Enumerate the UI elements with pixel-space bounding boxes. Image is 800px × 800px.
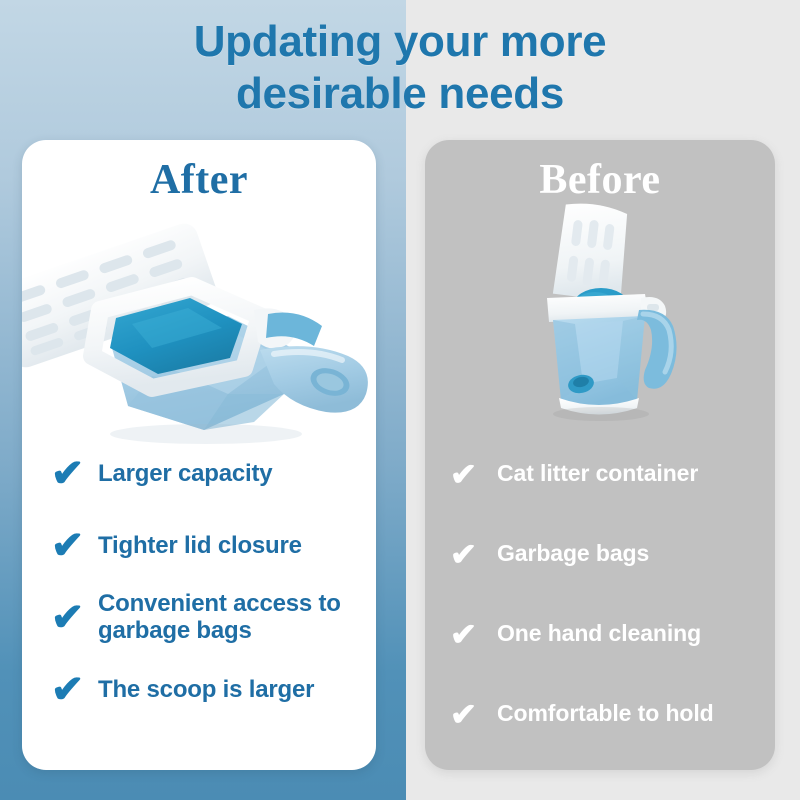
page-title-line-2: desirable needs — [0, 68, 800, 120]
feature-label: Cat litter container — [497, 461, 698, 487]
check-icon: ✔ — [450, 459, 498, 490]
infographic-root: Updating your more desirable needs After — [0, 0, 800, 800]
feature-item: ✔ Tighter lid closure — [52, 517, 376, 575]
check-icon: ✔ — [51, 455, 99, 493]
feature-label: The scoop is larger — [98, 677, 314, 704]
feature-label: Convenient access to garbage bags — [98, 591, 376, 645]
panel-before: Before — [425, 140, 775, 770]
feature-list-before: ✔ Cat litter container ✔ Garbage bags ✔ … — [425, 445, 775, 765]
feature-item: ✔ One hand cleaning — [451, 605, 775, 663]
check-icon: ✔ — [450, 699, 498, 730]
feature-item: ✔ Cat litter container — [451, 445, 775, 503]
feature-label: Comfortable to hold — [497, 701, 714, 727]
feature-item: ✔ The scoop is larger — [52, 661, 376, 719]
check-icon: ✔ — [450, 539, 498, 570]
feature-label: Tighter lid closure — [98, 533, 302, 560]
check-icon: ✔ — [450, 619, 498, 650]
page-title-line-1: Updating your more — [0, 16, 800, 68]
check-icon: ✔ — [51, 671, 99, 709]
feature-list-after: ✔ Larger capacity ✔ Tighter lid closure … — [22, 445, 376, 733]
check-icon: ✔ — [51, 599, 99, 637]
feature-label: Garbage bags — [497, 541, 649, 567]
panel-after-heading: After — [22, 156, 376, 204]
feature-item: ✔ Convenient access to garbage bags — [52, 589, 376, 647]
feature-label: Larger capacity — [98, 461, 272, 488]
product-image-after — [22, 198, 376, 448]
check-icon: ✔ — [51, 527, 99, 565]
panel-before-heading: Before — [425, 156, 775, 204]
panel-after: After — [22, 140, 376, 770]
page-title: Updating your more desirable needs — [0, 16, 800, 120]
feature-item: ✔ Larger capacity — [52, 445, 376, 503]
feature-item: ✔ Garbage bags — [451, 525, 775, 583]
product-image-before — [513, 202, 703, 432]
feature-label: One hand cleaning — [497, 621, 701, 647]
feature-item: ✔ Comfortable to hold — [451, 685, 775, 743]
